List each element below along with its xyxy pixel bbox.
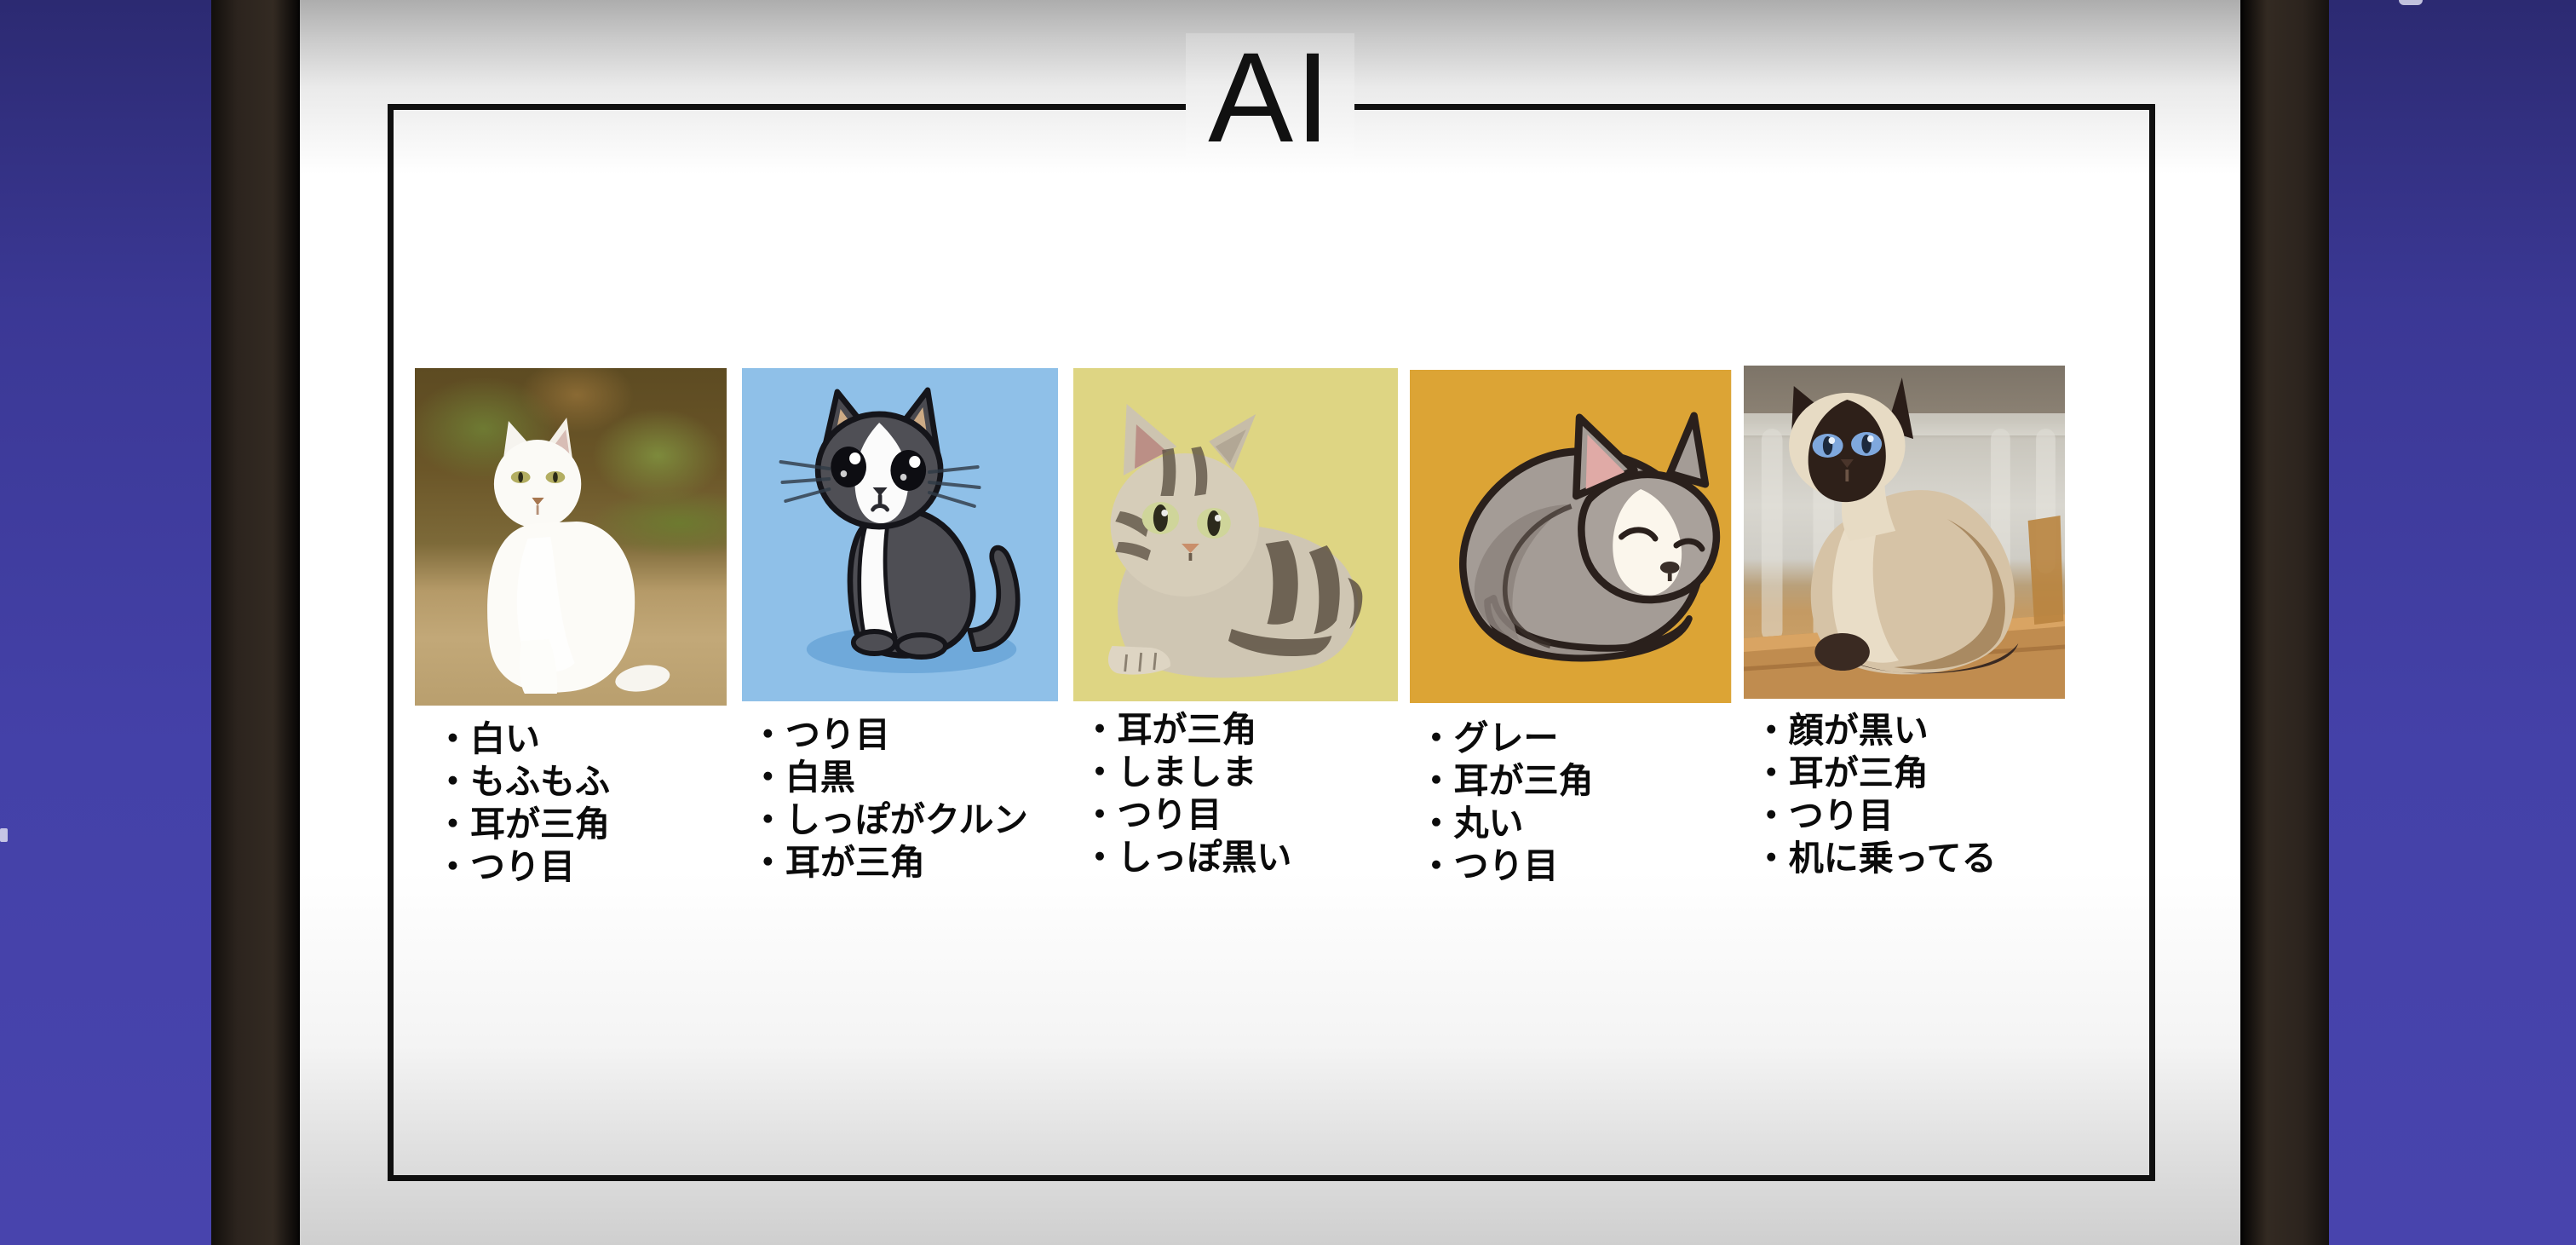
projector-backdrop: AI [0, 0, 2576, 1245]
siamese-cat-figure [1744, 366, 2065, 699]
cat-5-feature-list: 顔が黒い 耳が三角 つり目 机に乗ってる [1744, 709, 2065, 879]
feature-item: つり目 [435, 845, 727, 888]
feature-item: グレー [1418, 717, 1731, 759]
tuxedo-cat-illustration[interactable] [742, 368, 1059, 701]
feature-item: しっぽがクルン [750, 798, 1059, 841]
feature-item: しっぽ黒い [1082, 836, 1398, 879]
cat-2-feature-list: つり目 白黒 しっぽがクルン 耳が三角 [742, 713, 1059, 884]
cat-card-3[interactable]: 耳が三角 しましま つり目 しっぽ黒い [1073, 368, 1398, 879]
left-edge-artifact [0, 828, 8, 842]
feature-item: しましま [1082, 751, 1398, 793]
feature-item: 丸い [1418, 802, 1731, 844]
tabby-kitten-figure [1073, 368, 1398, 701]
cat-card-4[interactable]: グレー 耳が三角 丸い つり目 [1410, 368, 1731, 887]
feature-item: 耳が三角 [750, 841, 1059, 884]
cat-card-1[interactable]: 白い もふもふ 耳が三角 つり目 [415, 368, 727, 888]
cat-card-2[interactable]: つり目 白黒 しっぽがクルン 耳が三角 [742, 368, 1059, 884]
white-cat-figure [415, 368, 727, 706]
feature-item: 白い [435, 718, 727, 760]
feature-item: 耳が三角 [1418, 759, 1731, 802]
feature-item: つり目 [1754, 794, 2065, 837]
feature-item: 耳が三角 [435, 803, 727, 845]
tabby-kitten-photo[interactable] [1073, 368, 1398, 701]
right-dark-jamb [2240, 0, 2329, 1245]
feature-item: つり目 [750, 713, 1059, 756]
feature-item: 白黒 [750, 756, 1059, 798]
feature-item: もふもふ [435, 760, 727, 803]
left-dark-jamb [211, 0, 300, 1245]
cat-card-5[interactable]: 顔が黒い 耳が三角 つり目 机に乗ってる [1744, 368, 2065, 879]
siamese-cat-on-table-photo[interactable] [1744, 366, 2065, 699]
white-fluffy-cat-photo[interactable] [415, 368, 727, 706]
feature-item: 顔が黒い [1754, 709, 2065, 752]
feature-item: つり目 [1418, 844, 1731, 887]
top-right-edge-artifact [2399, 0, 2423, 5]
tuxedo-cat-figure [742, 368, 1059, 701]
feature-item: つり目 [1082, 793, 1398, 836]
sleeping-gray-cat-illustration[interactable] [1410, 370, 1731, 703]
cat-3-feature-list: 耳が三角 しましま つり目 しっぽ黒い [1073, 708, 1398, 879]
sleeping-cat-figure [1410, 370, 1731, 703]
feature-item: 耳が三角 [1082, 708, 1398, 751]
cat-card-row: 白い もふもふ 耳が三角 つり目 [412, 368, 2065, 990]
feature-item: 机に乗ってる [1754, 837, 2065, 879]
cat-1-feature-list: 白い もふもふ 耳が三角 つり目 [415, 718, 727, 888]
presentation-slide: AI [300, 0, 2240, 1245]
cat-4-feature-list: グレー 耳が三角 丸い つり目 [1410, 717, 1731, 887]
feature-item: 耳が三角 [1754, 752, 2065, 794]
